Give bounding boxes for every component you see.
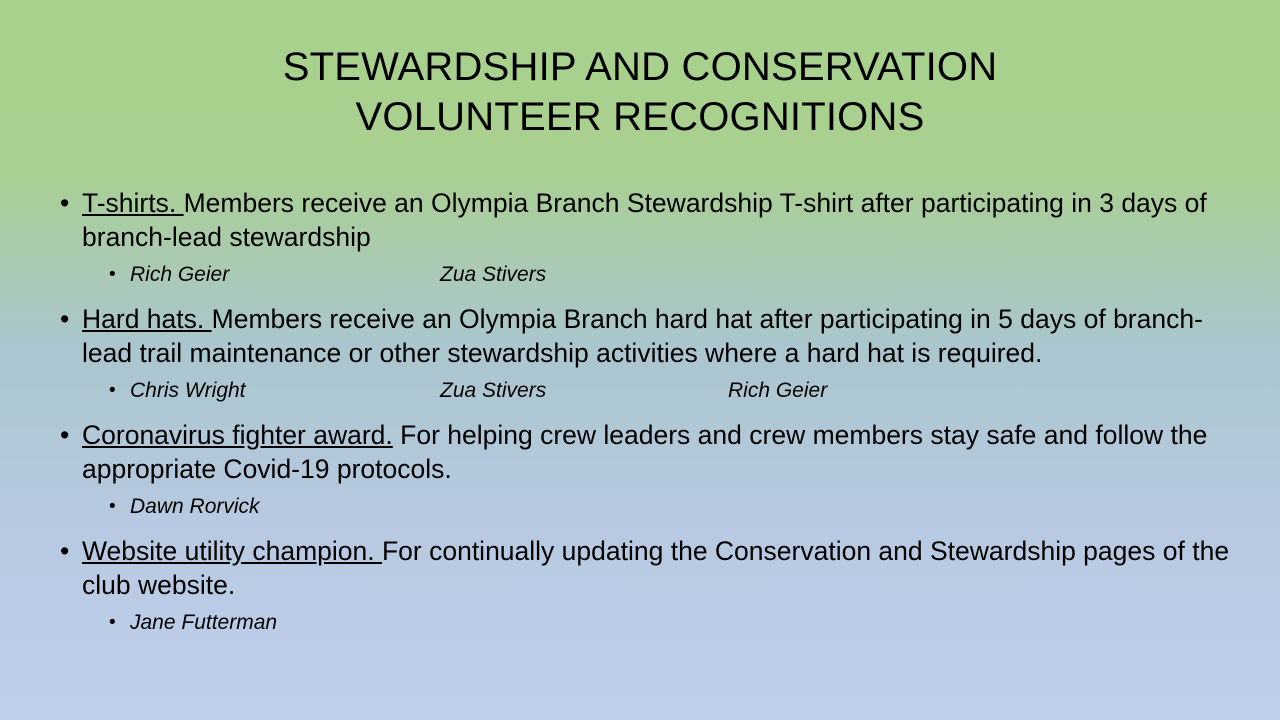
- bullet-lead-label: T-shirts.: [82, 188, 184, 218]
- sub-bullet-marker-icon: •: [109, 375, 116, 406]
- bullet-marker-icon: •: [60, 186, 69, 220]
- bullet-body-text: Members receive an Olympia Branch Stewar…: [82, 188, 1207, 252]
- recipient-name: Zua Stivers: [440, 259, 546, 290]
- bullet-item-coronavirus-fighter-award: • Coronavirus fighter award. For helping…: [52, 418, 1248, 486]
- name-row: Rich Geier Zua Stivers: [130, 259, 1248, 290]
- bullet-lead-label: Website utility champion.: [82, 536, 382, 566]
- recipient-name: Zua Stivers: [440, 375, 546, 406]
- recipient-name: Rich Geier: [728, 375, 827, 406]
- bullet-marker-icon: •: [60, 302, 69, 336]
- sub-bullet-marker-icon: •: [109, 607, 116, 638]
- sub-bullet-marker-icon: •: [109, 259, 116, 290]
- slide-title-line-1: STEWARDSHIP AND CONSERVATION: [64, 42, 1216, 92]
- slide-title: STEWARDSHIP AND CONSERVATION VOLUNTEER R…: [64, 42, 1216, 142]
- name-row: Chris Wright Zua Stivers Rich Geier: [130, 375, 1248, 406]
- recipient-name: Dawn Rorvick: [130, 491, 260, 522]
- sub-bullet-names-hard-hats: • Chris Wright Zua Stivers Rich Geier: [52, 375, 1248, 406]
- name-row: Jane Futterman: [130, 607, 1248, 638]
- bullet-marker-icon: •: [60, 418, 69, 452]
- bullet-marker-icon: •: [60, 534, 69, 568]
- bullet-body-text: Members receive an Olympia Branch hard h…: [82, 304, 1203, 368]
- recipient-name: Rich Geier: [130, 259, 229, 290]
- sub-bullet-names-website-utility-champion: • Jane Futterman: [52, 607, 1248, 638]
- presentation-slide: STEWARDSHIP AND CONSERVATION VOLUNTEER R…: [0, 0, 1280, 720]
- sub-bullet-names-tshirts: • Rich Geier Zua Stivers: [52, 259, 1248, 290]
- slide-title-line-2: VOLUNTEER RECOGNITIONS: [64, 92, 1216, 142]
- recipient-name: Jane Futterman: [130, 607, 277, 638]
- bullet-item-hard-hats: • Hard hats. Members receive an Olympia …: [52, 302, 1248, 370]
- sub-bullet-names-coronavirus-fighter-award: • Dawn Rorvick: [52, 491, 1248, 522]
- bullet-lead-label: Coronavirus fighter award.: [82, 420, 393, 450]
- bullet-lead-label: Hard hats.: [82, 304, 212, 334]
- bullet-item-website-utility-champion: • Website utility champion. For continua…: [52, 534, 1248, 602]
- slide-body: • T-shirts. Members receive an Olympia B…: [52, 186, 1248, 644]
- bullet-item-tshirts: • T-shirts. Members receive an Olympia B…: [52, 186, 1248, 254]
- sub-bullet-marker-icon: •: [109, 491, 116, 522]
- name-row: Dawn Rorvick: [130, 491, 1248, 522]
- recipient-name: Chris Wright: [130, 375, 246, 406]
